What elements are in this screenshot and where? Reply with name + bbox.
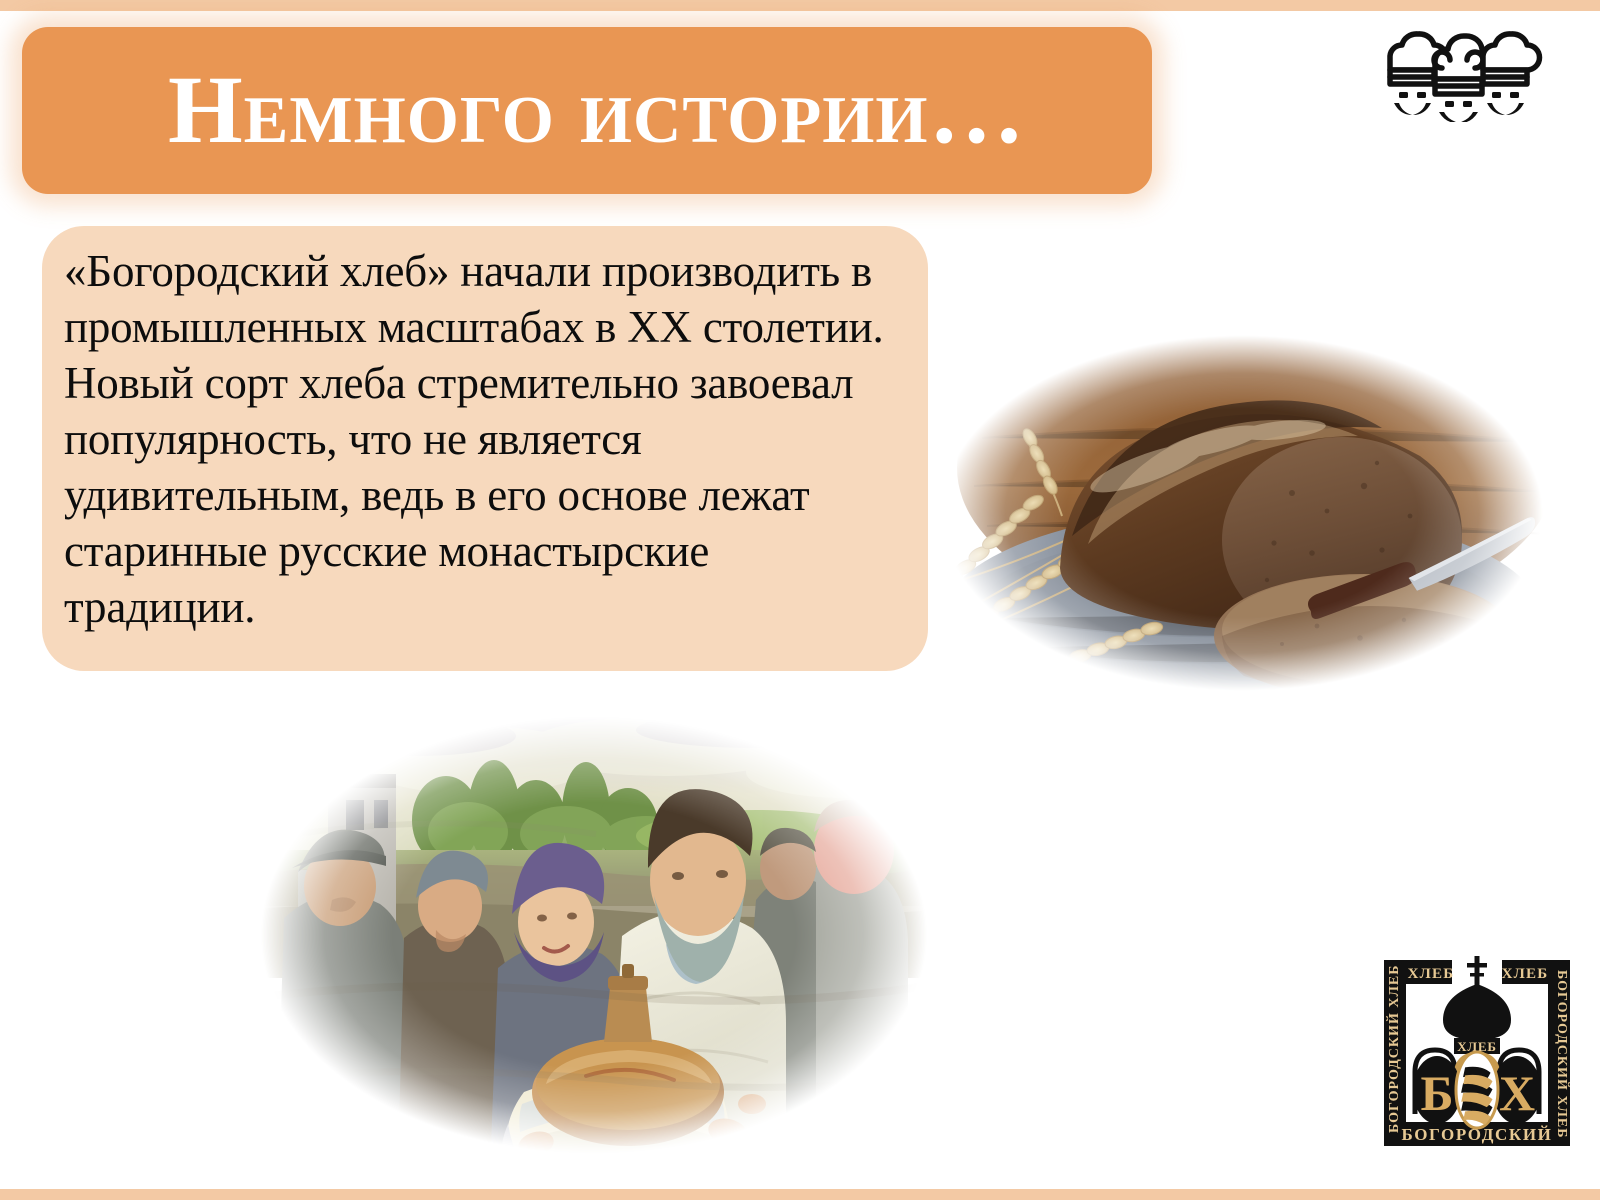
logo-monogram-b: Б (1420, 1065, 1453, 1121)
slide-root: Немного истории… (0, 0, 1600, 1200)
page-title: Немного истории… (168, 60, 1128, 160)
logo-border-text-right: БОГОРОДСКИЙ ХЛЕБ (1554, 970, 1571, 1138)
chef-hats-icon (1372, 24, 1544, 122)
peasants-bread-and-salt-painting (236, 700, 952, 1170)
logo-border-text-left: БОГОРОДСКИЙ ХЛЕБ (1385, 965, 1402, 1133)
logo-border-text-top: ХЛЕБ (1408, 966, 1455, 982)
logo-border-text-top-right: ХЛЕБ (1502, 966, 1549, 982)
dark-rye-bread-photo (912, 318, 1572, 708)
bogorodsky-hleb-logo: ХЛЕБ ХЛЕБ БОГОРОДСКИЙ ХЛЕБ БОГОРОДСКИЙ Х… (1368, 938, 1586, 1160)
body-paragraph: «Богородский хлеб» начали производить в … (64, 243, 904, 635)
bottom-edge-band (0, 1189, 1600, 1200)
logo-monogram-h: Х (1499, 1065, 1535, 1121)
top-edge-band (0, 0, 1600, 11)
